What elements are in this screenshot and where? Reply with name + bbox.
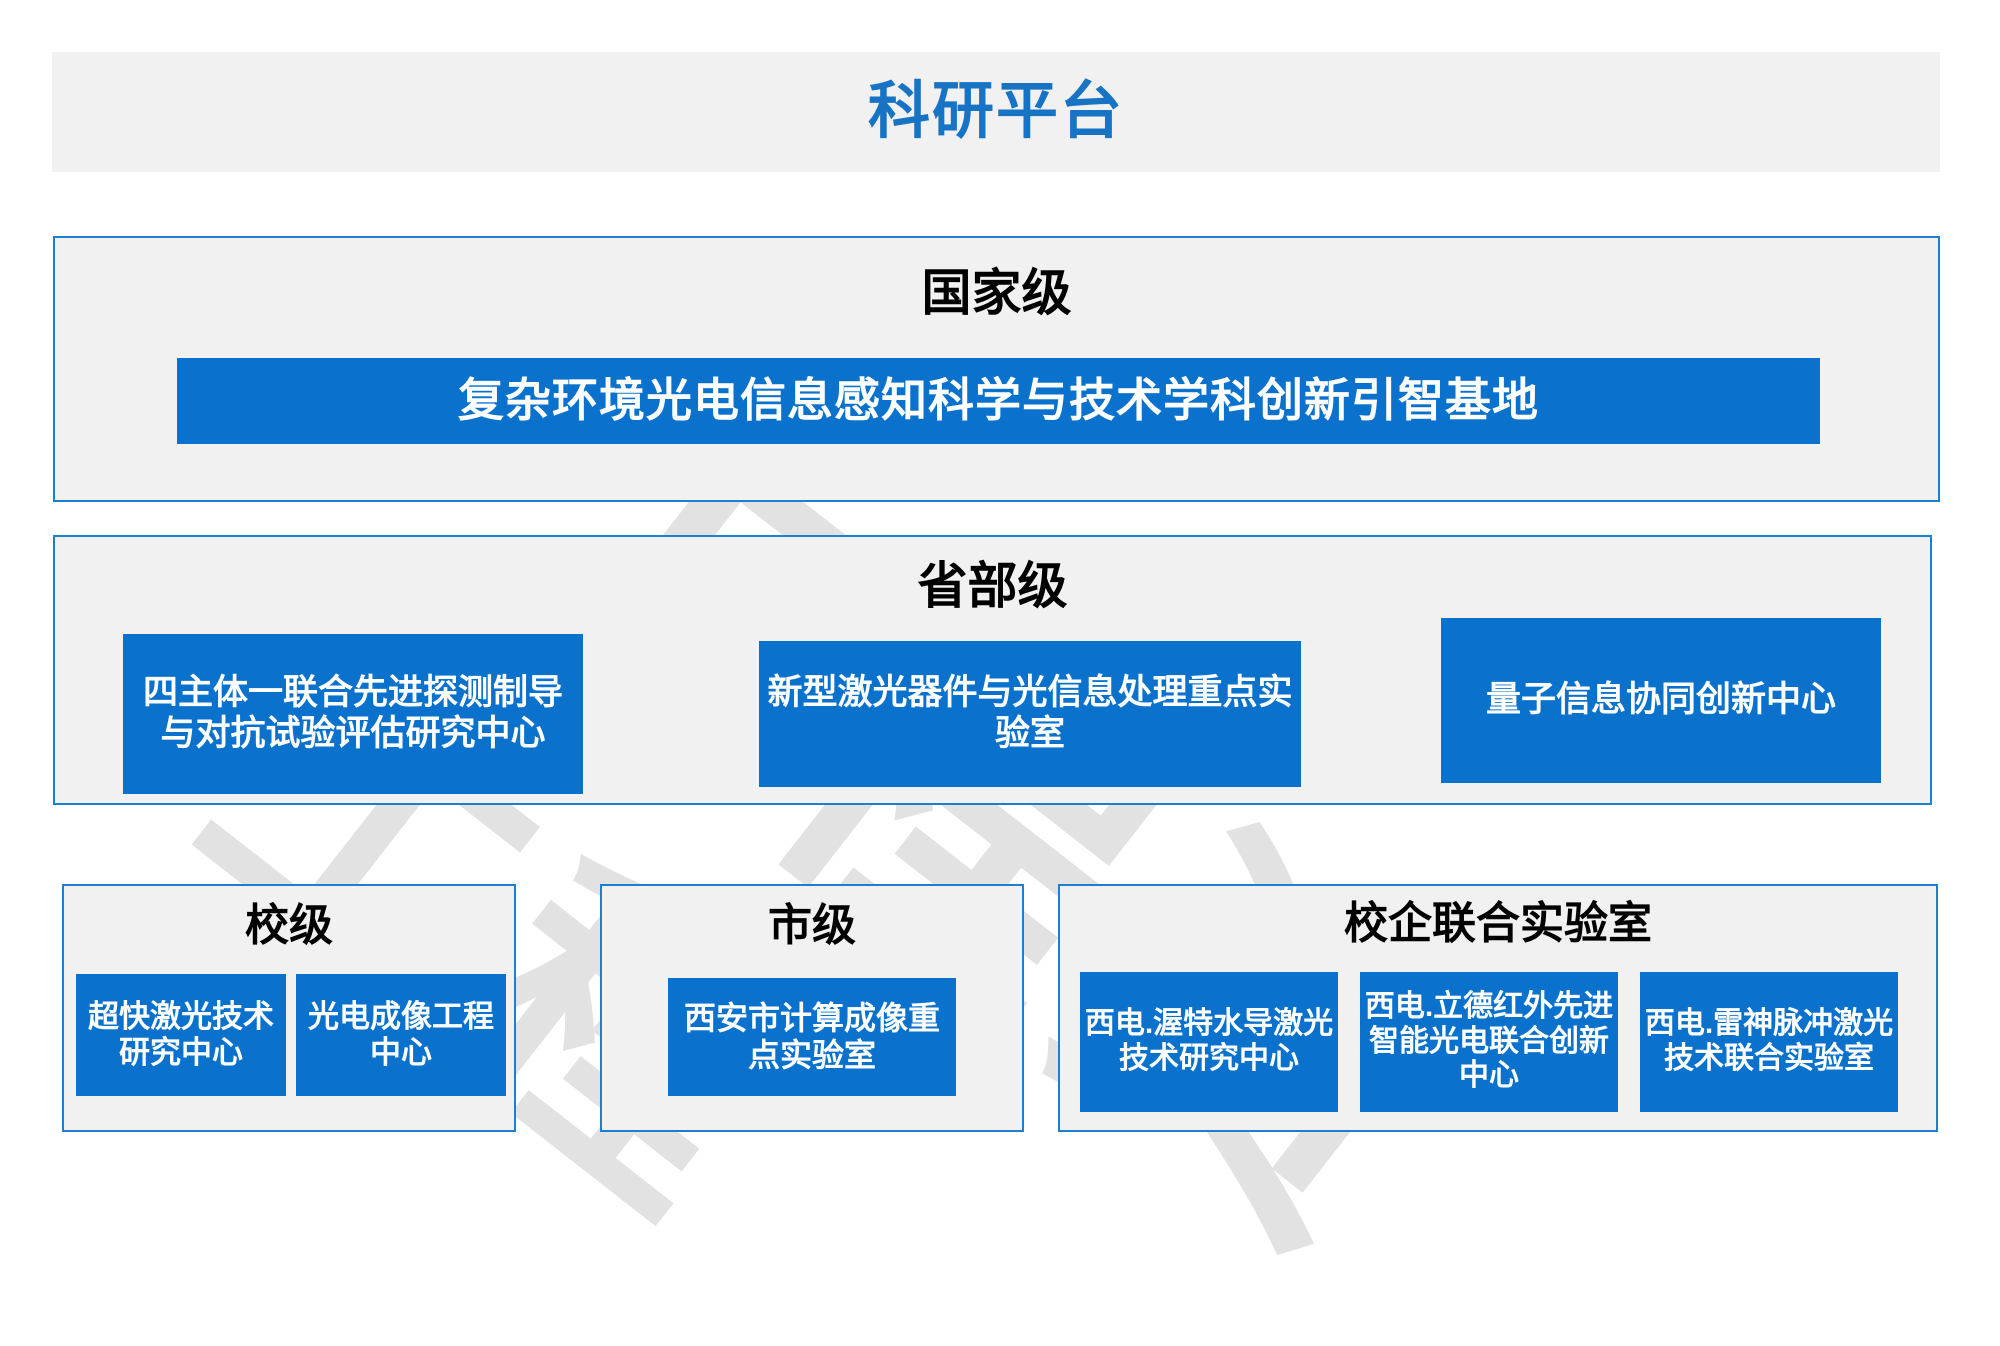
platform-chip-row-school: 超快激光技术研究中心 光电成像工程中心 — [76, 974, 506, 1096]
page-title: 科研平台 — [868, 81, 1124, 143]
platform-chip-school-1[interactable]: 光电成像工程中心 — [296, 974, 506, 1096]
level-heading-national: 国家级 — [55, 268, 1938, 318]
level-heading-city: 市级 — [602, 904, 1022, 948]
platform-chip-provincial-0[interactable]: 四主体一联合先进探测制导与对抗试验评估研究中心 — [123, 634, 583, 794]
platform-chip-joint-2[interactable]: 西电.雷神脉冲激光技术联合实验室 — [1640, 972, 1898, 1112]
research-platform-slide: 科研平台 国家级 复杂环境光电信息感知科学与技术学科创新引智基地 省部级 四主体… — [0, 0, 2000, 1229]
platform-chip-row-city: 西安市计算成像重点实验室 — [668, 978, 956, 1096]
level-section-joint-lab: 校企联合实验室 西电.渥特水导激光技术研究中心 西电.立德红外先进智能光电联合创… — [1058, 884, 1938, 1132]
platform-chip-national-0[interactable]: 复杂环境光电信息感知科学与技术学科创新引智基地 — [177, 358, 1820, 444]
platform-chip-city-0[interactable]: 西安市计算成像重点实验室 — [668, 978, 956, 1096]
platform-chip-provincial-1[interactable]: 新型激光器件与光信息处理重点实验室 — [759, 641, 1301, 787]
level-section-city: 市级 西安市计算成像重点实验室 — [600, 884, 1024, 1132]
level-heading-provincial: 省部级 — [55, 561, 1930, 611]
platform-chip-school-0[interactable]: 超快激光技术研究中心 — [76, 974, 286, 1096]
level-heading-school: 校级 — [64, 904, 514, 948]
platform-chip-joint-1[interactable]: 西电.立德红外先进智能光电联合创新中心 — [1360, 972, 1618, 1112]
level-heading-joint-lab: 校企联合实验室 — [1060, 902, 1936, 946]
level-section-national: 国家级 复杂环境光电信息感知科学与技术学科创新引智基地 — [53, 236, 1940, 502]
platform-chip-joint-0[interactable]: 西电.渥特水导激光技术研究中心 — [1080, 972, 1338, 1112]
level-section-provincial: 省部级 四主体一联合先进探测制导与对抗试验评估研究中心 新型激光器件与光信息处理… — [53, 535, 1932, 805]
platform-chip-provincial-2[interactable]: 量子信息协同创新中心 — [1441, 618, 1881, 783]
level-section-school: 校级 超快激光技术研究中心 光电成像工程中心 — [62, 884, 516, 1132]
page-title-bar: 科研平台 — [52, 52, 1940, 172]
platform-chip-row-joint-lab: 西电.渥特水导激光技术研究中心 西电.立德红外先进智能光电联合创新中心 西电.雷… — [1080, 972, 1898, 1112]
